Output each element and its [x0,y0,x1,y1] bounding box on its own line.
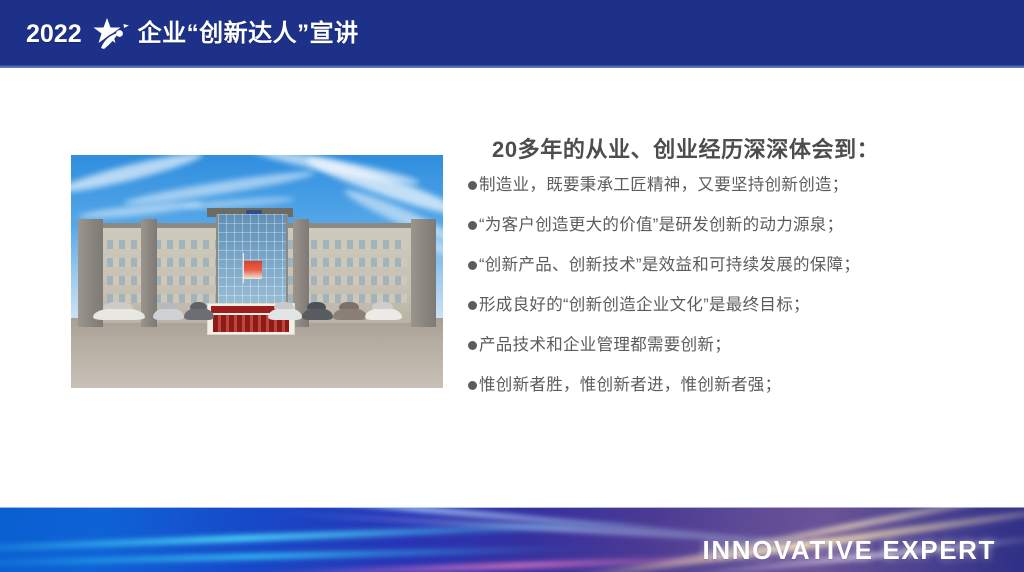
star-person-logo-icon [89,17,131,51]
bullet-text: 产品技术和企业管理都需要创新； [479,337,731,354]
building-photo [71,155,443,388]
photo-car [184,308,214,320]
building-photo-image [71,155,443,388]
bullet-item: “为客户创造更大的价值”是研发创新的动力源泉； [468,217,998,257]
photo-car [93,308,145,320]
footer-tagline: INNOVATIVE EXPERT [703,535,997,566]
photo-car [268,308,301,320]
light-streak [0,546,594,568]
photo-car [153,308,185,320]
bullet-dot-icon [468,261,477,270]
slide-header-band: 2022 企业“创新达人”宣讲 [0,0,1024,68]
lead-title: 20多年的从业、创业经历深深体会到： [492,137,998,163]
header-title: 企业“创新达人”宣讲 [138,22,359,46]
header-year: 2022 [26,22,82,47]
bullet-dot-icon [468,221,477,230]
bullet-text: 惟创新者胜，惟创新者进，惟创新者强； [479,377,781,394]
bullet-item: 制造业，既要秉承工匠精神，又要坚持创新创造； [468,177,998,217]
bullet-dot-icon [468,181,477,190]
bullet-list: 制造业，既要秉承工匠精神，又要坚持创新创造； “为客户创造更大的价值”是研发创新… [468,177,998,417]
slide-body: 20多年的从业、创业经历深深体会到： 制造业，既要秉承工匠精神，又要坚持创新创造… [0,68,1024,507]
bullet-text: 形成良好的“创新创造企业文化”是最终目标； [479,297,810,314]
bullet-text: “为客户创造更大的价值”是研发创新的动力源泉； [479,217,843,234]
bullet-item: 形成良好的“创新创造企业文化”是最终目标； [468,297,998,337]
photo-flag [244,261,262,279]
bullet-text: “创新产品、创新技术”是效益和可持续发展的保障； [479,257,860,274]
photo-car [302,308,334,320]
photo-car [333,308,366,320]
light-streak [0,520,655,555]
bullet-dot-icon [468,381,477,390]
header-content: 2022 企业“创新达人”宣讲 [26,0,359,68]
photo-car [365,308,402,320]
bullet-dot-icon [468,341,477,350]
slide-footer-band: INNOVATIVE EXPERT [0,507,1024,572]
content-text-column: 20多年的从业、创业经历深深体会到： 制造业，既要秉承工匠精神，又要坚持创新创造… [468,137,998,417]
bullet-text: 制造业，既要秉承工匠精神，又要坚持创新创造； [479,177,849,194]
bullet-dot-icon [468,301,477,310]
bullet-item: “创新产品、创新技术”是效益和可持续发展的保障； [468,257,998,297]
light-streak [225,555,757,572]
bullet-item: 产品技术和企业管理都需要创新； [468,337,998,377]
slide-root: 2022 企业“创新达人”宣讲 [0,0,1024,572]
bullet-item: 惟创新者胜，惟创新者进，惟创新者强； [468,377,998,417]
